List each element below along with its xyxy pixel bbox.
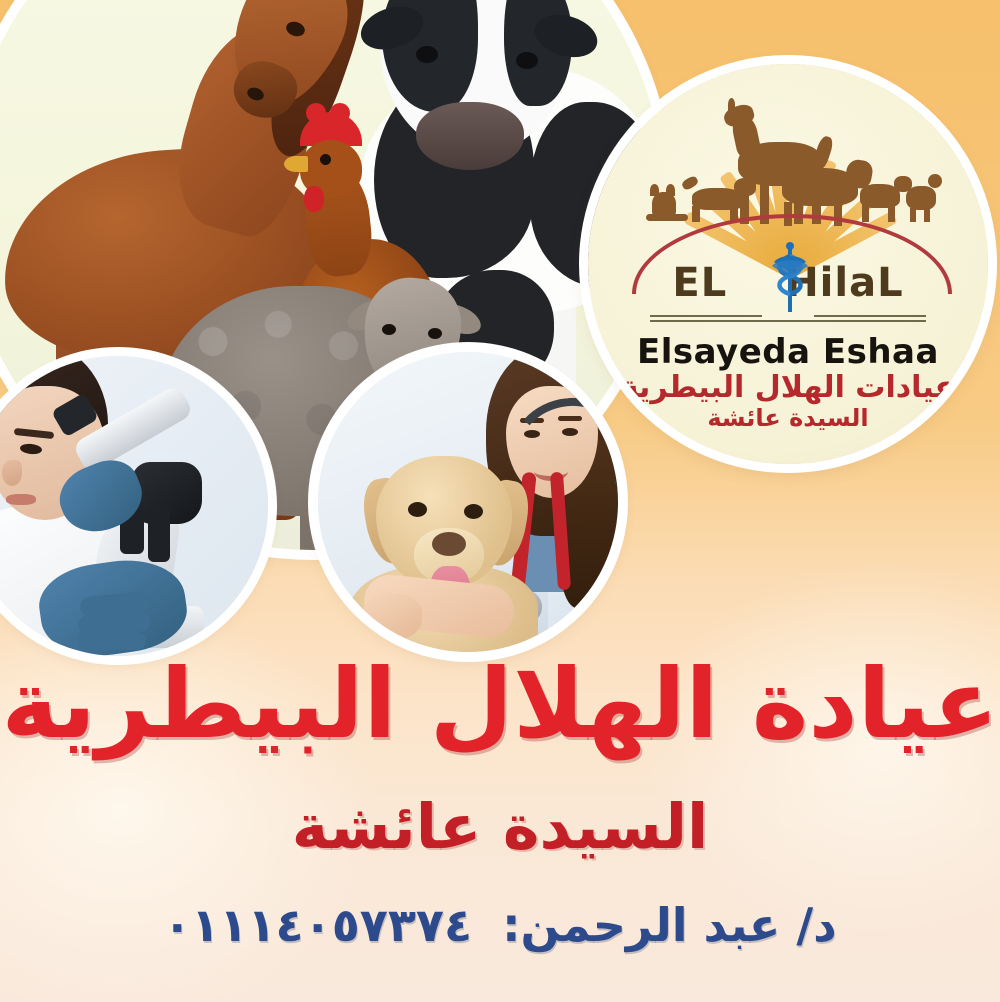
veterinarian-dog-photo (318, 352, 618, 652)
logo-arabic-line-1: عيادات الهلال البيطرية (588, 370, 988, 405)
lab-microscope-photo (0, 356, 268, 656)
clinic-logo: ELHilaL Elsayeda Eshaa عيادات الهلال الب… (588, 64, 988, 464)
poster-subheadline: السيدة عائشة (0, 790, 1000, 863)
logo-brand-left: EL (672, 260, 727, 306)
logo-divider-rules (650, 312, 926, 325)
doctor-name-label: د/ عبد الرحمن: (502, 898, 837, 952)
poster-headline: عيادة الهلال البيطرية (0, 648, 1000, 760)
logo-subtitle-en: Elsayeda Eshaa (588, 332, 988, 372)
poster-canvas: ELHilaL Elsayeda Eshaa عيادات الهلال الب… (0, 0, 1000, 1002)
phone-number[interactable]: ٠١١١٤٠٥٧٣٧٤ (163, 898, 472, 952)
caduceus-icon (770, 242, 810, 316)
contact-line: د/ عبد الرحمن: ٠١١١٤٠٥٧٣٧٤ (0, 898, 1000, 952)
logo-arabic-line-2: السيدة عائشة (588, 404, 988, 432)
